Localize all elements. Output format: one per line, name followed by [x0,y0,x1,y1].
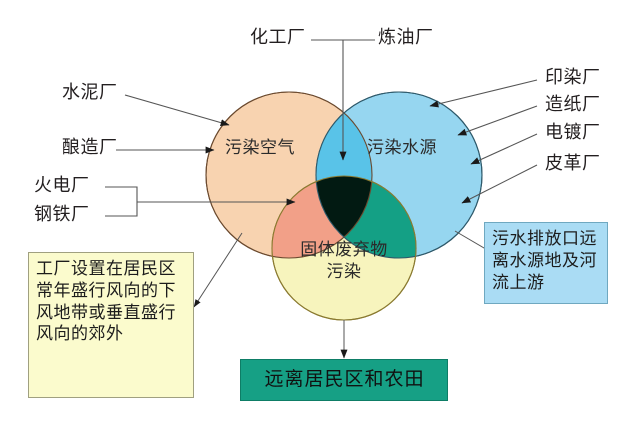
note-siting: 工厂设置在居民区常年盛行风向的下风地带或垂直盛行风向的郊外 [28,252,194,398]
source-label-leather-plant: 皮革厂 [545,154,601,173]
source-label-electroplating-plant: 电镀厂 [545,123,601,142]
source-label-cement-plant: 水泥厂 [62,83,118,102]
source-label-thermal-power-plant: 火电厂 [34,176,90,195]
circle-label-solid-waste-line1: 固体废弃物 [284,241,404,259]
connector-siting-note [194,233,242,307]
source-label-chemical-plant: 化工厂 [250,28,306,47]
circle-label-solid-waste-line2: 污染 [284,263,404,281]
venn-diagram-root: 化工厂 炼油厂 水泥厂 酿造厂 火电厂 钢铁厂 印染厂 造纸厂 电镀厂 皮革厂 … [0,0,636,421]
circle-label-polluted-water: 污染水源 [362,139,442,157]
bracket-power-steel [105,187,137,216]
source-label-steel-plant: 钢铁厂 [34,205,90,224]
connector-cement [125,95,229,125]
connector-dyeing [430,80,537,106]
source-label-dyeing-plant: 印染厂 [545,68,601,87]
note-landfill: 远离居民区和农田 [240,359,448,401]
note-wastewater: 污水排放口远离水源地及河流上游 [484,222,608,304]
circle-label-polluted-air: 污染空气 [220,139,300,157]
source-label-brewery: 酿造厂 [62,138,118,157]
source-label-paper-mill: 造纸厂 [545,95,601,114]
source-label-oil-refinery: 炼油厂 [378,28,434,47]
connector-paper [458,106,537,135]
connector-plating [471,134,537,164]
